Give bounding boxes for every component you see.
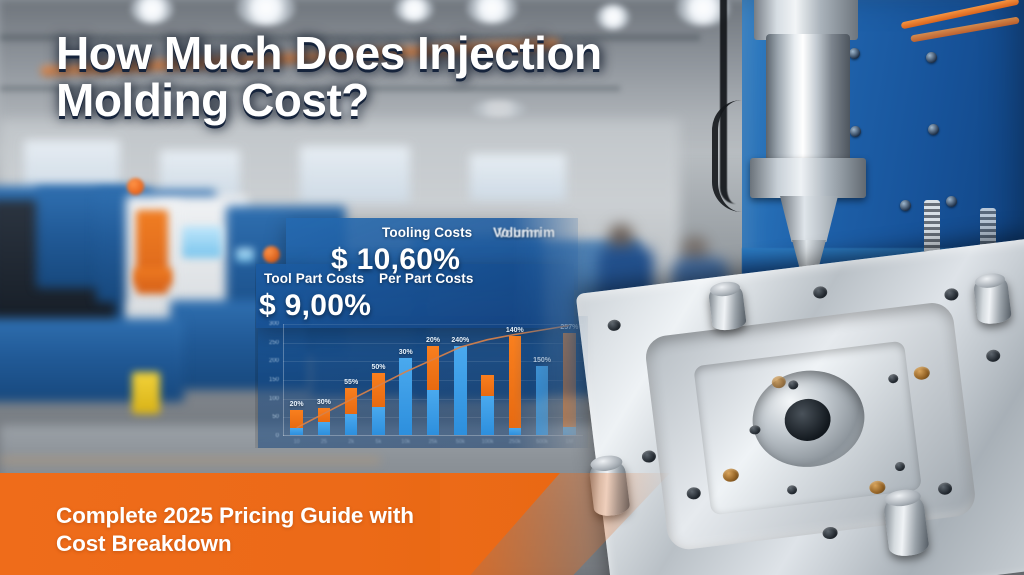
floor-reflection: [0, 458, 380, 463]
bar: [318, 408, 331, 435]
bar-value-label: 150%: [533, 357, 551, 364]
x-tick-label: 2k: [348, 439, 354, 445]
bar: [454, 346, 467, 435]
machine-indicator: [236, 248, 254, 262]
y-tick-label: 200: [269, 358, 279, 364]
machine-orange-panel: [134, 268, 172, 286]
machine-screen: [182, 226, 222, 258]
bar-segment-blue: [290, 428, 303, 435]
garbled-heading: Volumrim Vobrim: [493, 225, 573, 243]
page-title: How Much Does Injection Molding Cost?: [56, 30, 756, 124]
cost-chart-overlay: Tooling Costs Volumrim Vobrim $ 10,60% T…: [255, 196, 595, 448]
x-tick-label: 10k: [401, 439, 410, 445]
bar: [481, 375, 494, 435]
y-tick-label: 250: [269, 340, 279, 346]
window: [470, 154, 566, 200]
bar-value-label: 30%: [317, 399, 331, 406]
headline-line-2: Molding Cost?: [56, 77, 756, 124]
bar: [427, 346, 440, 435]
garbled-heading-text-b: Vobrim: [497, 226, 540, 241]
bar-value-label: 20%: [290, 401, 304, 408]
y-tick-label: 100: [269, 396, 279, 402]
bar-value-label: 140%: [506, 327, 524, 334]
headline-line-1: How Much Does Injection: [56, 27, 602, 79]
bar-value-label: 20%: [426, 337, 440, 344]
x-tick-label: 50k: [456, 439, 465, 445]
x-axis: [283, 435, 583, 436]
x-tick-label: 100k: [482, 439, 494, 445]
bar: [345, 388, 358, 435]
frame-bolt: [900, 200, 911, 211]
bar-segment-blue: [399, 358, 412, 435]
bar-segment-orange: [563, 333, 576, 426]
bar: [536, 366, 549, 435]
per-part-costs-label: Per Part Costs: [379, 271, 473, 286]
y-axis: [283, 324, 284, 436]
bar-segment-blue: [372, 407, 385, 435]
bar: [509, 336, 522, 435]
bar-segment-blue: [318, 422, 331, 435]
bar-segment-blue: [536, 366, 549, 435]
bar: [399, 358, 412, 435]
frame-bolt: [946, 196, 957, 207]
bar: [563, 333, 576, 435]
bar-segment-orange: [427, 346, 440, 390]
bar-segment-blue: [563, 427, 576, 435]
y-tick-label: 300: [269, 321, 279, 327]
ram-collar: [750, 158, 866, 198]
bar-value-label: 30%: [399, 349, 413, 356]
ram-cylinder: [766, 34, 850, 162]
bar-segment-blue: [454, 346, 467, 435]
bar: [290, 410, 303, 435]
bar-segment-blue: [427, 390, 440, 435]
bar-value-label: 55%: [344, 379, 358, 386]
frame-bolt: [850, 126, 861, 137]
bar-chart-plot: 300250200150100500 10252k5k10k25k50k100k…: [283, 324, 583, 436]
banner-image: Tooling Costs Volumrim Vobrim $ 10,60% T…: [0, 0, 1024, 575]
steel-mold-die: [576, 238, 1024, 575]
frame-bolt: [849, 48, 860, 59]
subtitle-text: Complete 2025 Pricing Guide with Cost Br…: [56, 502, 526, 557]
tool-part-costs-value: $ 9,00%: [259, 289, 371, 323]
subtitle-line-1: Complete 2025 Pricing Guide with: [56, 503, 414, 528]
bar-value-label: 257%: [560, 324, 578, 331]
bar-value-label: 240%: [451, 337, 469, 344]
bar-segment-orange: [372, 373, 385, 407]
frame-bolt: [928, 124, 939, 135]
window: [300, 146, 410, 202]
x-tick-label: 250k: [509, 439, 521, 445]
bar-segment-blue: [481, 396, 494, 435]
tool-part-costs-label: Tool Part Costs: [264, 271, 364, 286]
bar-segment-orange: [318, 408, 331, 422]
yellow-bucket: [132, 372, 160, 414]
orange-indicator-dot: [127, 178, 144, 195]
bar-segment-blue: [345, 414, 358, 435]
x-tick-label: 25k: [429, 439, 438, 445]
bar-segment-orange: [290, 410, 303, 428]
y-tick-label: 150: [269, 377, 279, 383]
y-tick-label: 50: [272, 414, 279, 420]
x-tick-label: 5k: [376, 439, 382, 445]
frame-bolt: [926, 52, 937, 63]
bar-segment-orange: [345, 388, 358, 415]
x-tick-label: 500k: [536, 439, 548, 445]
bar-segment-orange: [509, 336, 522, 427]
tooling-costs-label: Tooling Costs: [382, 225, 472, 240]
y-tick-label: 0: [276, 433, 279, 439]
bar-segment-orange: [481, 375, 494, 396]
x-tick-label: 25: [321, 439, 327, 445]
x-tick-label: 10: [294, 439, 300, 445]
bar: [372, 373, 385, 435]
bar-value-label: 50%: [371, 364, 385, 371]
bar-segment-blue: [509, 428, 522, 435]
x-tick-label: 1M: [566, 439, 574, 445]
subtitle-line-2: Cost Breakdown: [56, 531, 231, 556]
